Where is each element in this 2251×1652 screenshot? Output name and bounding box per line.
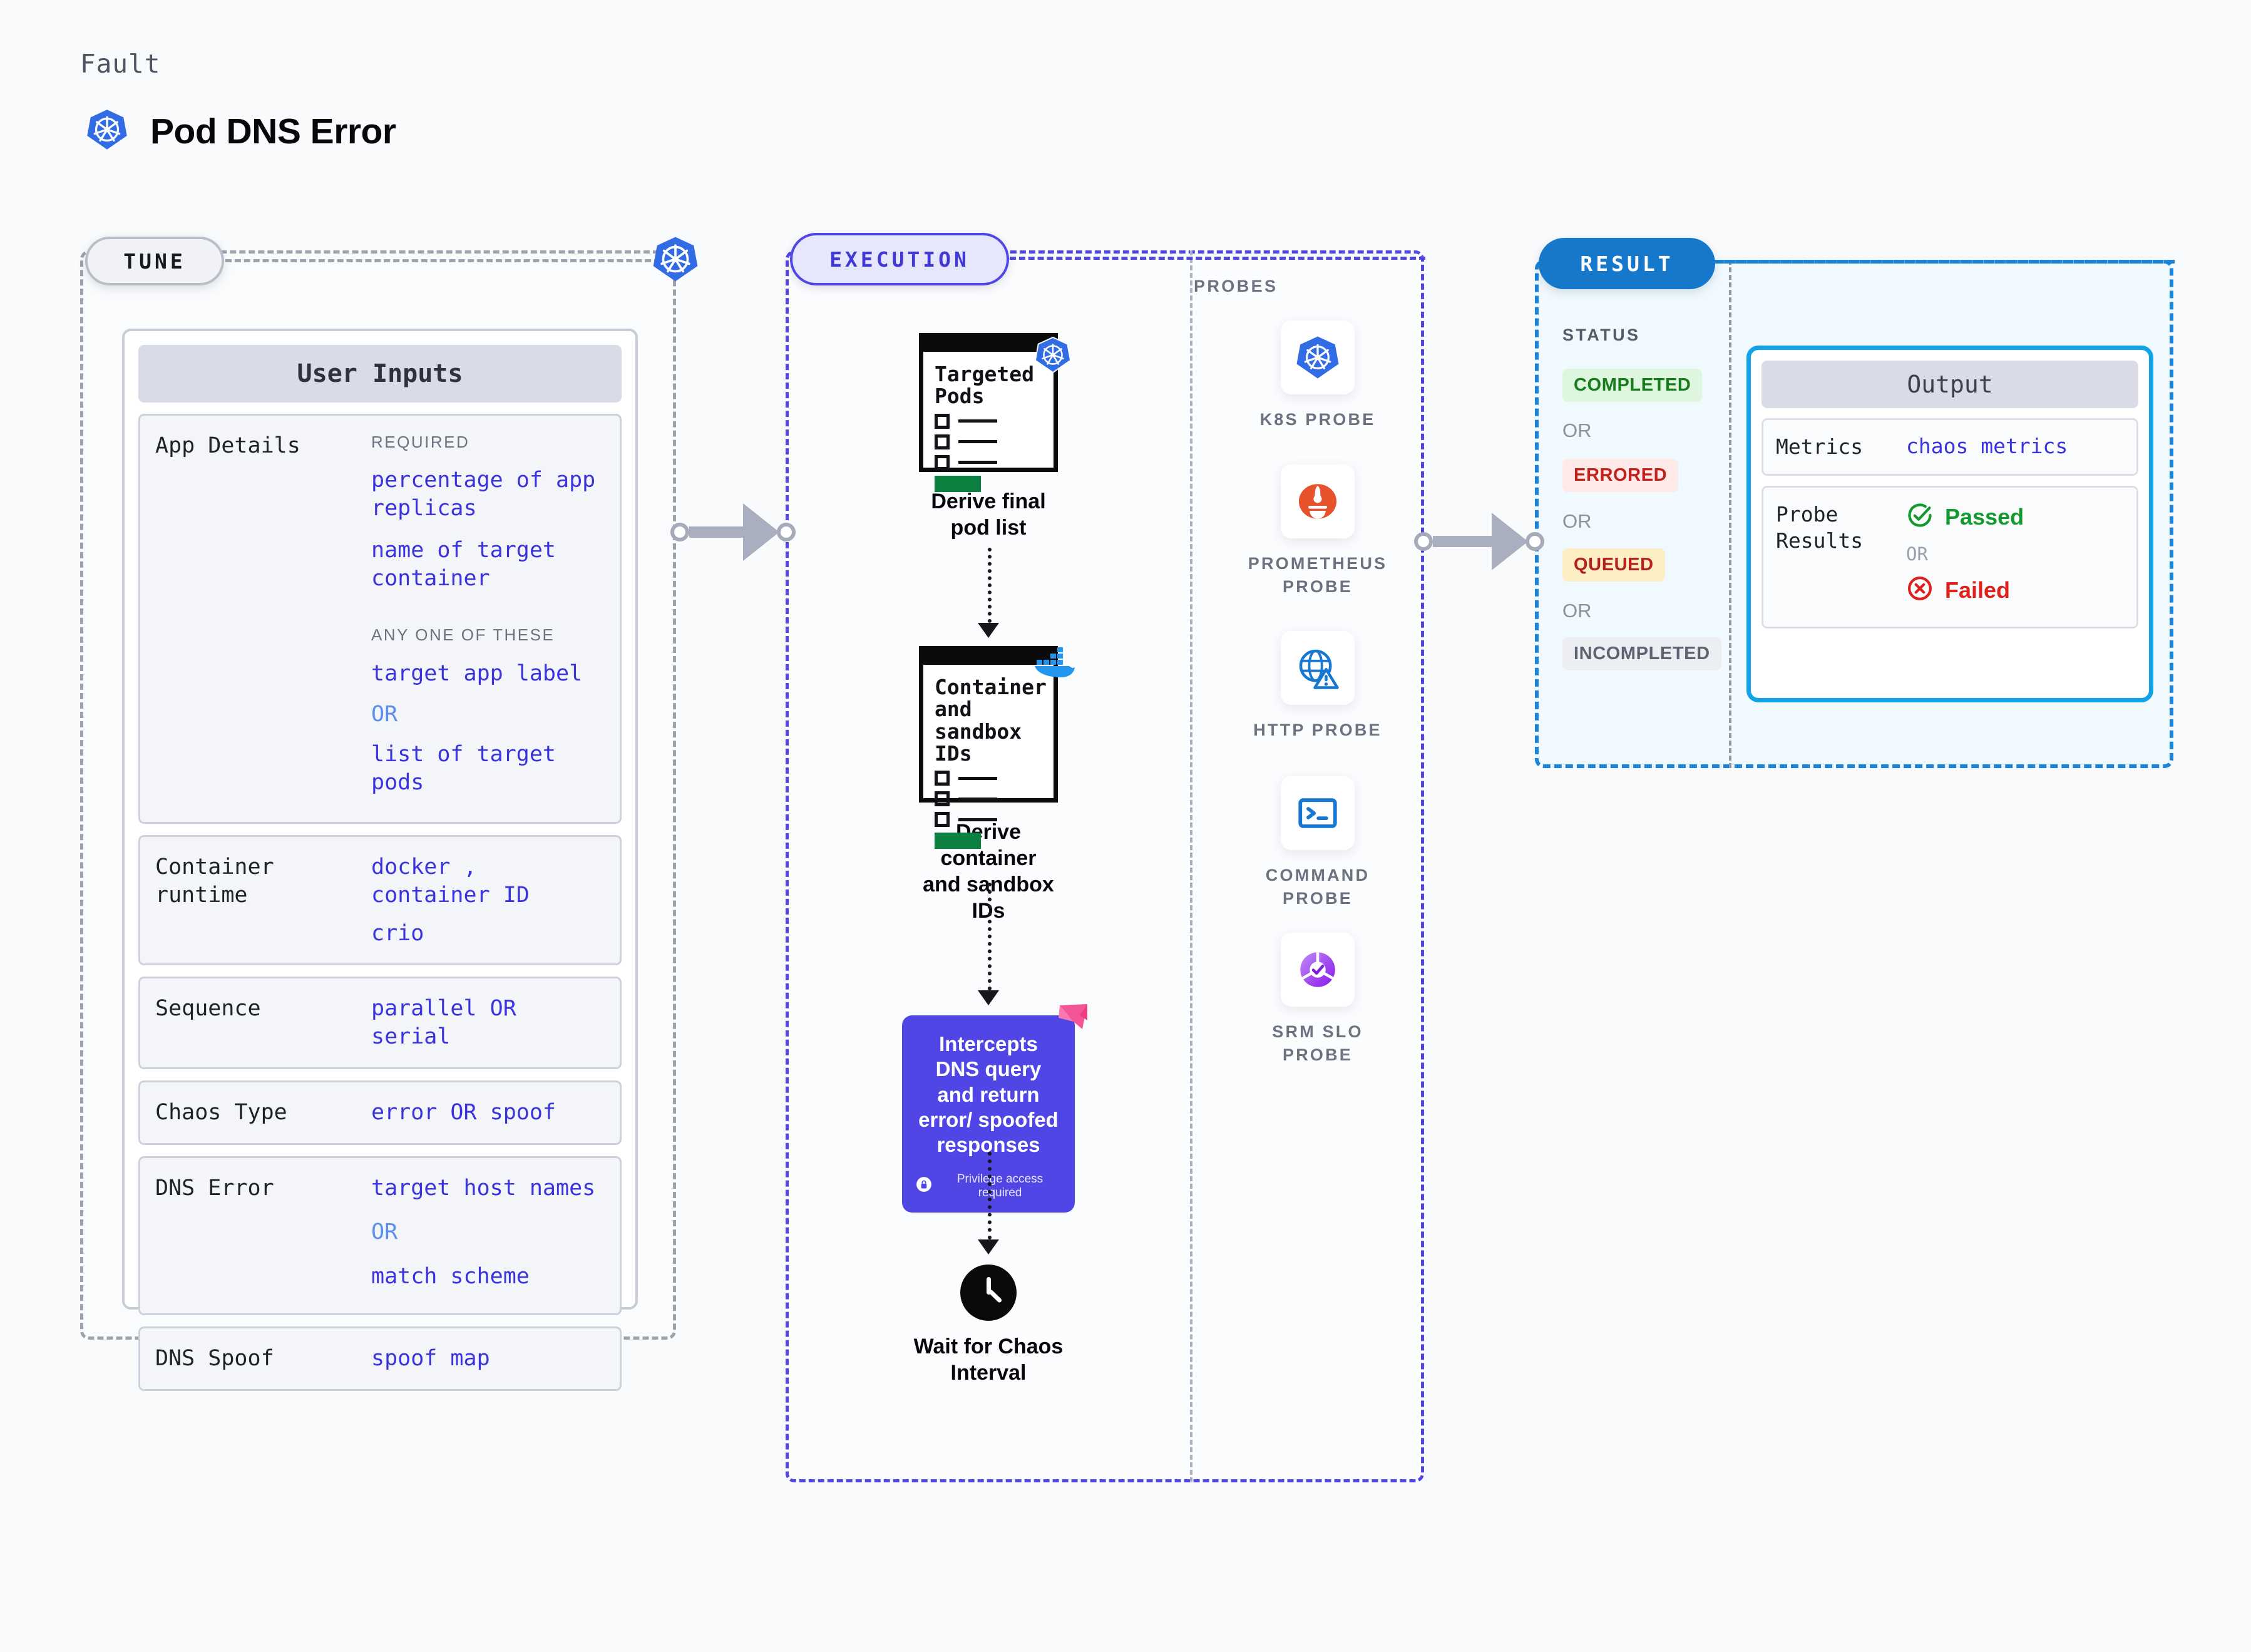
status-section-title: STATUS — [1562, 326, 1640, 345]
document-title: Targeted Pods — [935, 363, 1043, 408]
stage-chip-tune[interactable]: TUNE — [85, 237, 224, 285]
user-inputs-card: User Inputs App Details REQUIRED percent… — [122, 329, 638, 1310]
status-or-separator: OR — [1562, 419, 1592, 442]
probe-result-passed: Passed — [1906, 501, 2124, 532]
status-bar — [935, 476, 981, 492]
connector-execution-to-result — [1414, 513, 1544, 570]
input-value: target host names — [371, 1174, 605, 1203]
connector-bar — [1433, 536, 1492, 547]
connector-arrowhead — [743, 503, 779, 561]
input-row-sequence: Sequence parallel OR serial — [138, 977, 622, 1069]
flow-arrowhead — [978, 623, 999, 638]
stage-chip-execution[interactable]: EXECUTION — [790, 233, 1009, 285]
probes-divider — [1190, 250, 1192, 1482]
docker-icon — [1033, 646, 1075, 682]
input-value: spoof map — [371, 1345, 605, 1373]
document-icon: Container and sandbox IDs — [919, 646, 1058, 803]
kubernetes-icon — [651, 235, 700, 284]
result-inner-divider — [1729, 260, 1731, 768]
probe-result-or-separator: OR — [1906, 543, 2124, 565]
probe-label: K8S PROBE — [1260, 408, 1376, 431]
checkbox-icon — [935, 812, 950, 827]
input-value: percentage of app replicas — [371, 466, 605, 523]
checkbox-icon — [935, 434, 950, 449]
input-row-key: Container runtime — [155, 853, 371, 947]
status-badge-queued: QUEUED — [1562, 548, 1665, 582]
probe-label: COMMAND PROBE — [1246, 864, 1390, 911]
flow-node-derive-pod-list: Targeted Pods Derive final pod list — [919, 333, 1058, 541]
text-rule — [958, 777, 997, 780]
probe-result-failed-label: Failed — [1945, 577, 2010, 603]
checkbox-icon — [935, 414, 950, 429]
input-value: name of target container — [371, 536, 605, 593]
probe-label: HTTP PROBE — [1253, 719, 1382, 742]
globe-warning-icon — [1281, 631, 1355, 705]
input-value: parallel OR serial — [371, 995, 605, 1051]
page-title-row: Pod DNS Error — [85, 108, 396, 155]
checkbox-icon — [935, 771, 950, 786]
execution-top-dashed-line — [1010, 257, 1425, 260]
input-row-container-runtime: Container runtime docker , container ID … — [138, 835, 622, 965]
tune-top-dashed-line — [225, 259, 670, 262]
output-row-metrics: Metrics chaos metrics — [1761, 418, 2138, 476]
input-row-key: App Details — [155, 432, 371, 797]
connector-arrowhead — [1492, 513, 1528, 570]
litmus-icon — [1055, 1003, 1089, 1035]
document-checklist — [935, 414, 1043, 492]
input-row-dns-spoof: DNS Spoof spoof map — [138, 1326, 622, 1391]
document-icon: Targeted Pods — [919, 333, 1058, 472]
prometheus-icon — [1281, 464, 1355, 538]
text-rule — [958, 798, 997, 801]
flow-arrowhead — [978, 990, 999, 1005]
probe-item-http[interactable]: HTTP PROBE — [1246, 631, 1390, 742]
input-or-separator: OR — [371, 700, 605, 729]
input-value: target app label — [371, 660, 605, 688]
kubernetes-icon — [1281, 321, 1355, 394]
connector-end-dot — [777, 523, 796, 541]
probes-section-title: PROBES — [1194, 277, 1278, 296]
input-row-key: DNS Spoof — [155, 1345, 371, 1373]
srm-slo-icon — [1281, 933, 1355, 1007]
input-value: docker , container ID — [371, 853, 605, 910]
input-row-key: Sequence — [155, 995, 371, 1051]
connector-start-dot — [1414, 532, 1433, 551]
output-card: Output Metrics chaos metrics Probe Resul… — [1746, 346, 2153, 702]
page-title: Pod DNS Error — [150, 111, 396, 152]
result-top-dashed-line — [1716, 260, 2175, 264]
output-row-value: chaos metrics — [1906, 434, 2124, 460]
flow-node-caption: Derive final pod list — [919, 488, 1058, 541]
probe-label: PROMETHEUS PROBE — [1246, 552, 1390, 599]
probe-result-failed: Failed — [1906, 575, 2124, 605]
x-circle-icon — [1906, 575, 1934, 605]
document-checklist — [935, 771, 1043, 849]
input-value: crio — [371, 920, 605, 948]
input-or-separator: OR — [371, 1218, 605, 1246]
chaos-action-text: Intercepts DNS query and return error/ s… — [916, 1032, 1061, 1157]
input-row-app-details: App Details REQUIRED percentage of app r… — [138, 414, 622, 824]
input-row-key: Chaos Type — [155, 1099, 371, 1127]
stage-chip-result[interactable]: RESULT — [1539, 238, 1715, 289]
output-row-probe-results: Probe Results Passed OR — [1761, 486, 2138, 628]
output-row-key: Metrics — [1776, 434, 1906, 460]
probe-label: SRM SLO PROBE — [1246, 1020, 1390, 1067]
checkbox-icon — [935, 455, 950, 470]
status-or-separator: OR — [1562, 600, 1592, 622]
check-circle-icon — [1906, 501, 1934, 532]
status-bar — [935, 833, 981, 849]
input-row-chaos-type: Chaos Type error OR spoof — [138, 1080, 622, 1145]
probe-item-command[interactable]: COMMAND PROBE — [1246, 776, 1390, 911]
status-badge-errored: ERRORED — [1562, 459, 1678, 492]
output-row-key: Probe Results — [1776, 501, 1906, 605]
output-card-title: Output — [1761, 361, 2138, 408]
input-row-dns-error: DNS Error target host names OR match sch… — [138, 1156, 622, 1315]
flow-node-wait-chaos-interval: Wait for Chaos Interval — [891, 1265, 1086, 1386]
flow-node-caption: Wait for Chaos Interval — [891, 1333, 1086, 1386]
text-rule — [958, 440, 997, 443]
input-group-label-any-one: ANY ONE OF THESE — [371, 625, 605, 645]
flow-dashed-connector — [988, 883, 992, 990]
status-badge-completed: COMPLETED — [1562, 369, 1702, 402]
text-rule — [958, 461, 997, 464]
flow-dashed-connector — [988, 548, 992, 623]
connector-start-dot — [670, 523, 689, 541]
input-row-key: DNS Error — [155, 1174, 371, 1291]
kubernetes-icon — [1033, 336, 1072, 377]
probe-item-srm-slo[interactable]: SRM SLO PROBE — [1246, 933, 1390, 1067]
connector-bar — [689, 526, 743, 538]
flow-arrowhead — [978, 1239, 999, 1254]
input-value: error OR spoof — [371, 1099, 605, 1127]
text-rule — [958, 419, 997, 423]
input-value: list of target pods — [371, 741, 605, 797]
privilege-note-label: Privilege access required — [939, 1172, 1061, 1200]
connector-tune-to-execution — [670, 504, 796, 560]
probe-item-prometheus[interactable]: PROMETHEUS PROBE — [1246, 464, 1390, 599]
clock-icon — [960, 1265, 1017, 1321]
document-title: Container and sandbox IDs — [935, 676, 1043, 764]
probe-item-k8s[interactable]: K8S PROBE — [1246, 321, 1390, 431]
kubernetes-icon — [85, 108, 129, 155]
probe-result-passed-label: Passed — [1945, 504, 2024, 530]
text-rule — [958, 818, 997, 821]
input-value: match scheme — [371, 1263, 605, 1291]
flow-dashed-connector — [988, 1152, 992, 1239]
lock-icon — [916, 1176, 932, 1196]
checkbox-icon — [935, 791, 950, 806]
terminal-icon — [1281, 776, 1355, 850]
user-inputs-title: User Inputs — [138, 345, 622, 403]
input-group-label-required: REQUIRED — [371, 432, 605, 453]
status-or-separator: OR — [1562, 510, 1592, 533]
fault-eyebrow-label: Fault — [80, 49, 160, 79]
connector-end-dot — [1525, 532, 1544, 551]
status-badge-incompleted: INCOMPLETED — [1562, 637, 1721, 670]
